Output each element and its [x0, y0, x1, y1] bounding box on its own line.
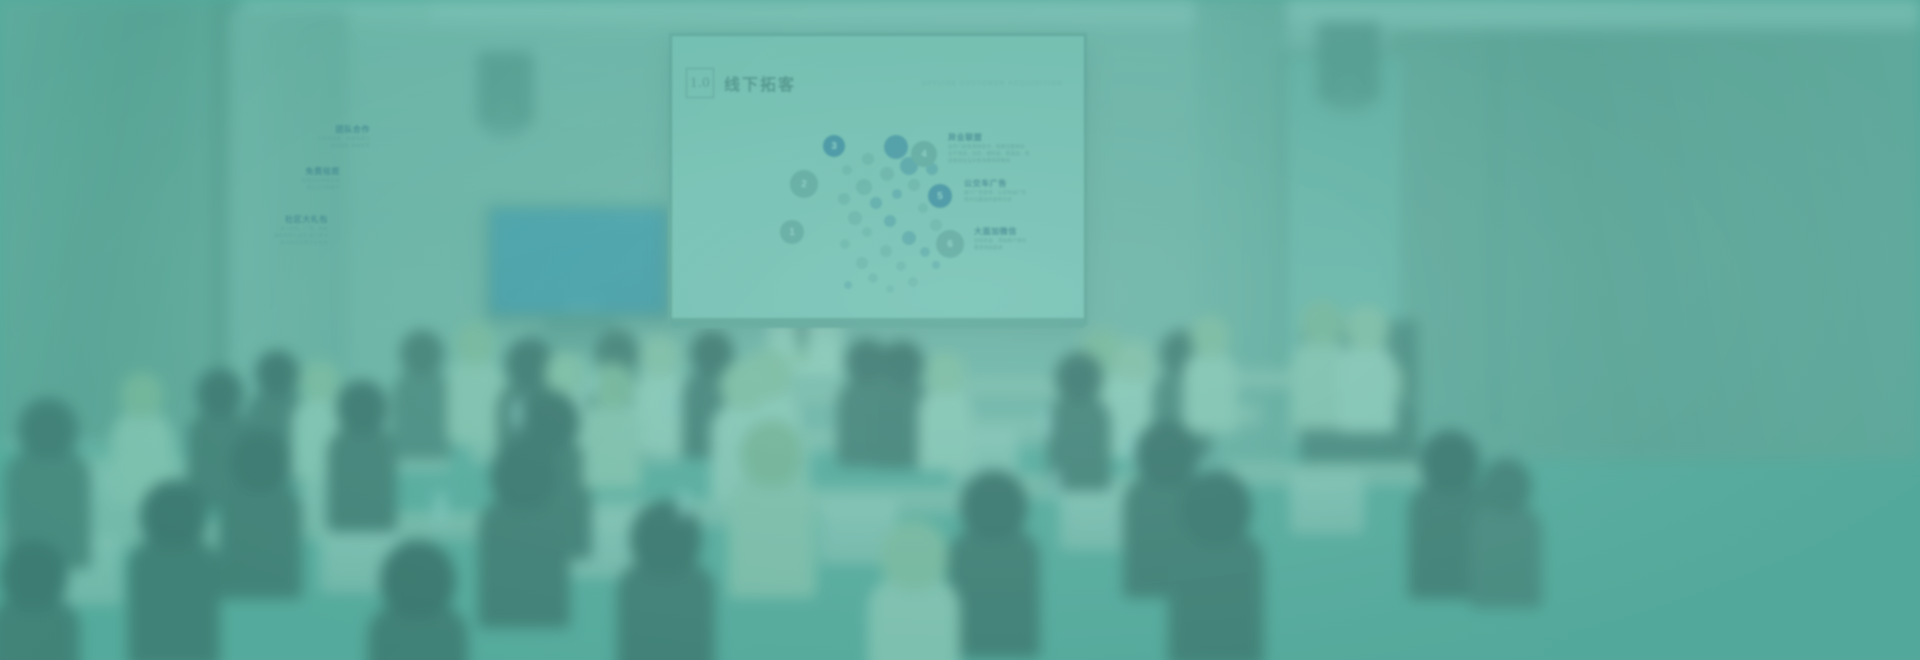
hero-banner: TOUCH DISPLAY: [0, 0, 1920, 660]
vignette-overlay: [0, 0, 1920, 660]
